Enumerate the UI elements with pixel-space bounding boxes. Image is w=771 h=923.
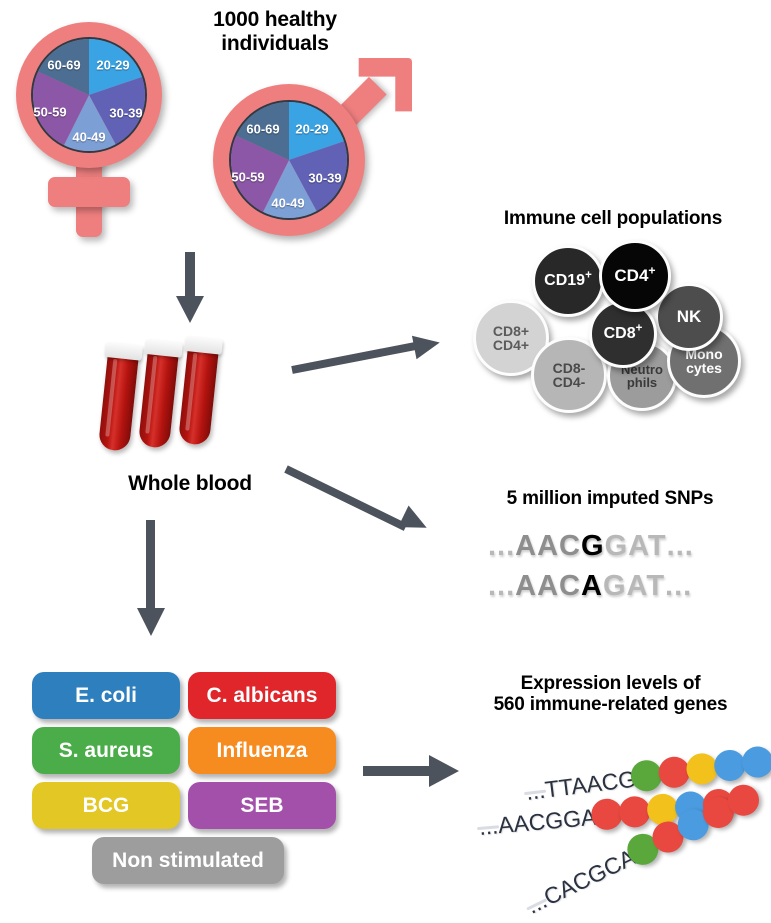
cell-cd4pos: CD4+	[599, 240, 671, 312]
male-symbol: 20-29 30-39 40-49 50-59 60-69	[205, 58, 420, 248]
snp-post: GAT	[603, 570, 665, 603]
cell-label-sup: +	[585, 270, 592, 282]
stimulus-e-coli[interactable]: E. coli	[32, 672, 180, 719]
stimulus-c-albicans[interactable]: C. albicans	[188, 672, 336, 719]
tube-body	[138, 350, 179, 449]
stimulus-label: BCG	[83, 794, 130, 818]
arrow-blood-to-immune	[292, 330, 452, 380]
snp-pre: AAC	[515, 530, 581, 563]
cell-label: CD8	[604, 325, 636, 342]
expression-title: Expression levels of 560 immune-related …	[450, 673, 771, 716]
arrow-head	[176, 296, 204, 323]
expression-title-line2: 560 immune-related genes	[450, 694, 771, 715]
stimulus-label: C. albicans	[207, 684, 318, 708]
blood-tube	[98, 342, 143, 455]
snp-prefix: ...	[488, 570, 515, 603]
stimulus-label: Non stimulated	[112, 849, 264, 873]
cell-label: NK	[677, 308, 702, 325]
arrow-head	[412, 331, 442, 360]
snp-pre: AAC	[515, 570, 581, 603]
arrow-shaft	[146, 520, 155, 612]
snp-sequence-row: ...AACAGAT...	[488, 570, 692, 603]
cell-label-line2: CD4-	[553, 375, 586, 389]
cell-label-line1: CD8+	[493, 324, 529, 338]
cell-label-line2: phils	[627, 376, 657, 389]
cell-label-sup: +	[636, 323, 643, 335]
cell-label-line1: CD8-	[553, 361, 586, 375]
cohort-section: 1000 healthy individuals 20-29 30-39 40-…	[0, 0, 440, 250]
cell-label-line2: CD4+	[493, 338, 529, 352]
stimulus-seb[interactable]: SEB	[188, 782, 336, 829]
cell-label-sup: +	[648, 264, 655, 278]
strand-sequence: ...AACGGAT	[478, 803, 610, 841]
immune-cell-section: Immune cell populations CD8+ CD4+ CD8- C…	[455, 200, 771, 430]
stimulus-bcg[interactable]: BCG	[32, 782, 180, 829]
female-pie-label-50-59: 50-59	[33, 105, 66, 120]
tube-body	[98, 353, 139, 452]
cohort-title-line1: 1000 healthy	[180, 8, 370, 32]
strand-bead	[740, 745, 771, 780]
stimuli-section: E. coli C. albicans S. aureus Influenza …	[30, 672, 350, 897]
arrow-cohort-to-blood	[176, 252, 204, 324]
whole-blood-label: Whole blood	[90, 472, 290, 496]
female-pie-label-60-69: 60-69	[47, 58, 80, 73]
female-stem-horizontal	[48, 177, 130, 207]
snp-suffix: ...	[667, 530, 694, 563]
arrow-head	[398, 506, 432, 539]
female-pie-label-30-39: 30-39	[109, 106, 142, 121]
female-pie-label-40-49: 40-49	[72, 130, 105, 145]
immune-title: Immune cell populations	[455, 208, 771, 229]
stimulus-label: E. coli	[75, 684, 137, 708]
arrow-shaft	[284, 465, 407, 530]
cell-label-line2: cytes	[686, 361, 722, 375]
snp-variant: G	[581, 530, 605, 563]
snp-section: 5 million imputed SNPs ...AACGGAT... ...…	[460, 480, 760, 620]
whole-blood-section: Whole blood	[95, 332, 295, 502]
cohort-title: 1000 healthy individuals	[180, 8, 370, 55]
arrow-blood-to-snps	[286, 455, 456, 555]
female-symbol: 20-29 30-39 40-49 50-59 60-69	[8, 12, 188, 242]
cell-label: CD19	[544, 272, 585, 289]
cohort-title-line2: individuals	[180, 32, 370, 56]
female-pie-label-20-29: 20-29	[96, 58, 129, 73]
snp-post: GAT	[605, 530, 667, 563]
stimulus-non-stimulated[interactable]: Non stimulated	[92, 837, 284, 884]
arrow-shaft	[185, 252, 195, 300]
snp-suffix: ...	[665, 570, 692, 603]
tube-body	[178, 347, 219, 446]
male-pie-label-50-59: 50-59	[231, 170, 264, 185]
stimulus-label: Influenza	[216, 739, 307, 763]
stimulus-influenza[interactable]: Influenza	[188, 727, 336, 774]
male-pie-label-60-69: 60-69	[246, 122, 279, 137]
cell-cd19pos: CD19+	[532, 245, 604, 317]
male-pie-label-20-29: 20-29	[295, 122, 328, 137]
arrow-shaft	[291, 342, 418, 374]
snp-variant: A	[581, 570, 603, 603]
arrow-blood-to-stimuli	[137, 520, 165, 640]
expression-section: Expression levels of 560 immune-related …	[450, 665, 771, 915]
arrow-head	[137, 608, 165, 636]
snp-title: 5 million imputed SNPs	[460, 488, 760, 509]
stimulus-s-aureus[interactable]: S. aureus	[32, 727, 180, 774]
snp-sequence-row: ...AACGGAT...	[488, 530, 694, 563]
snp-prefix: ...	[488, 530, 515, 563]
blood-tube	[138, 339, 183, 452]
blood-tube	[178, 336, 223, 449]
expression-title-line1: Expression levels of	[450, 673, 771, 694]
cell-label: CD4	[614, 266, 648, 285]
stimulus-label: S. aureus	[59, 739, 154, 763]
arrow-shaft	[363, 766, 433, 776]
stimulus-label: SEB	[240, 794, 283, 818]
male-pie-label-30-39: 30-39	[308, 171, 341, 186]
male-pie-label-40-49: 40-49	[271, 196, 304, 211]
